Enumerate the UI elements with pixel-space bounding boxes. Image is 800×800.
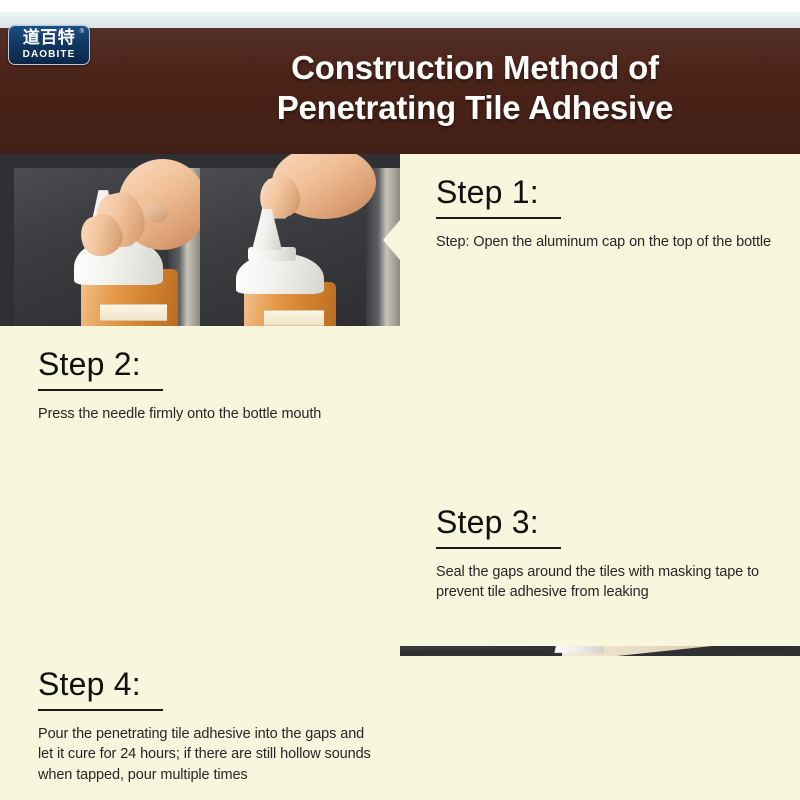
step-1-photo-b	[200, 168, 400, 326]
registered-trademark-icon: ®	[80, 29, 84, 35]
brand-logo: 道百特 ® DAOBITE	[8, 25, 90, 65]
chevron-notch-icon	[383, 220, 400, 260]
brand-logo-chinese: 道百特	[23, 30, 76, 47]
top-white-strip	[0, 0, 800, 12]
page-title-line-1: Construction Method of	[291, 49, 659, 86]
step-2-text-panel: Step 2: Press the needle firmly onto the…	[0, 326, 400, 484]
step-4-text-panel: Step 4: Pour the penetrating tile adhesi…	[0, 646, 400, 800]
step-4-body: Pour the penetrating tile adhesive into …	[38, 724, 376, 786]
step-3-heading: Step 3:	[436, 506, 561, 549]
bottle-label	[100, 304, 167, 321]
page-title: Construction Method of Penetrating Tile …	[170, 48, 780, 129]
step-1-text-panel: Step 1: Step: Open the aluminum cap on t…	[400, 154, 800, 326]
chevron-notch-icon	[400, 557, 417, 597]
bottle-label	[264, 310, 324, 326]
step-4-heading: Step 4:	[38, 668, 163, 711]
step-1-body: Step: Open the aluminum cap on the top o…	[436, 232, 776, 253]
header-banner: Construction Method of Penetrating Tile …	[0, 28, 800, 154]
step-2-heading: Step 2:	[38, 348, 163, 391]
step-2-body: Press the needle firmly onto the bottle …	[38, 404, 376, 425]
step-3-body: Seal the gaps around the tiles with mask…	[436, 562, 776, 603]
page-title-line-2: Penetrating Tile Adhesive	[170, 88, 780, 128]
step-1-photo-pair	[0, 154, 400, 326]
brand-logo-latin: DAOBITE	[23, 50, 76, 60]
step-1-heading: Step 1:	[436, 176, 561, 219]
infographic-page: Construction Method of Penetrating Tile …	[0, 0, 800, 800]
step-1-photo-a	[14, 168, 200, 326]
step-3-text-panel: Step 3: Seal the gaps around the tiles w…	[400, 484, 800, 646]
steps-grid: Step 1: Step: Open the aluminum cap on t…	[0, 154, 800, 800]
